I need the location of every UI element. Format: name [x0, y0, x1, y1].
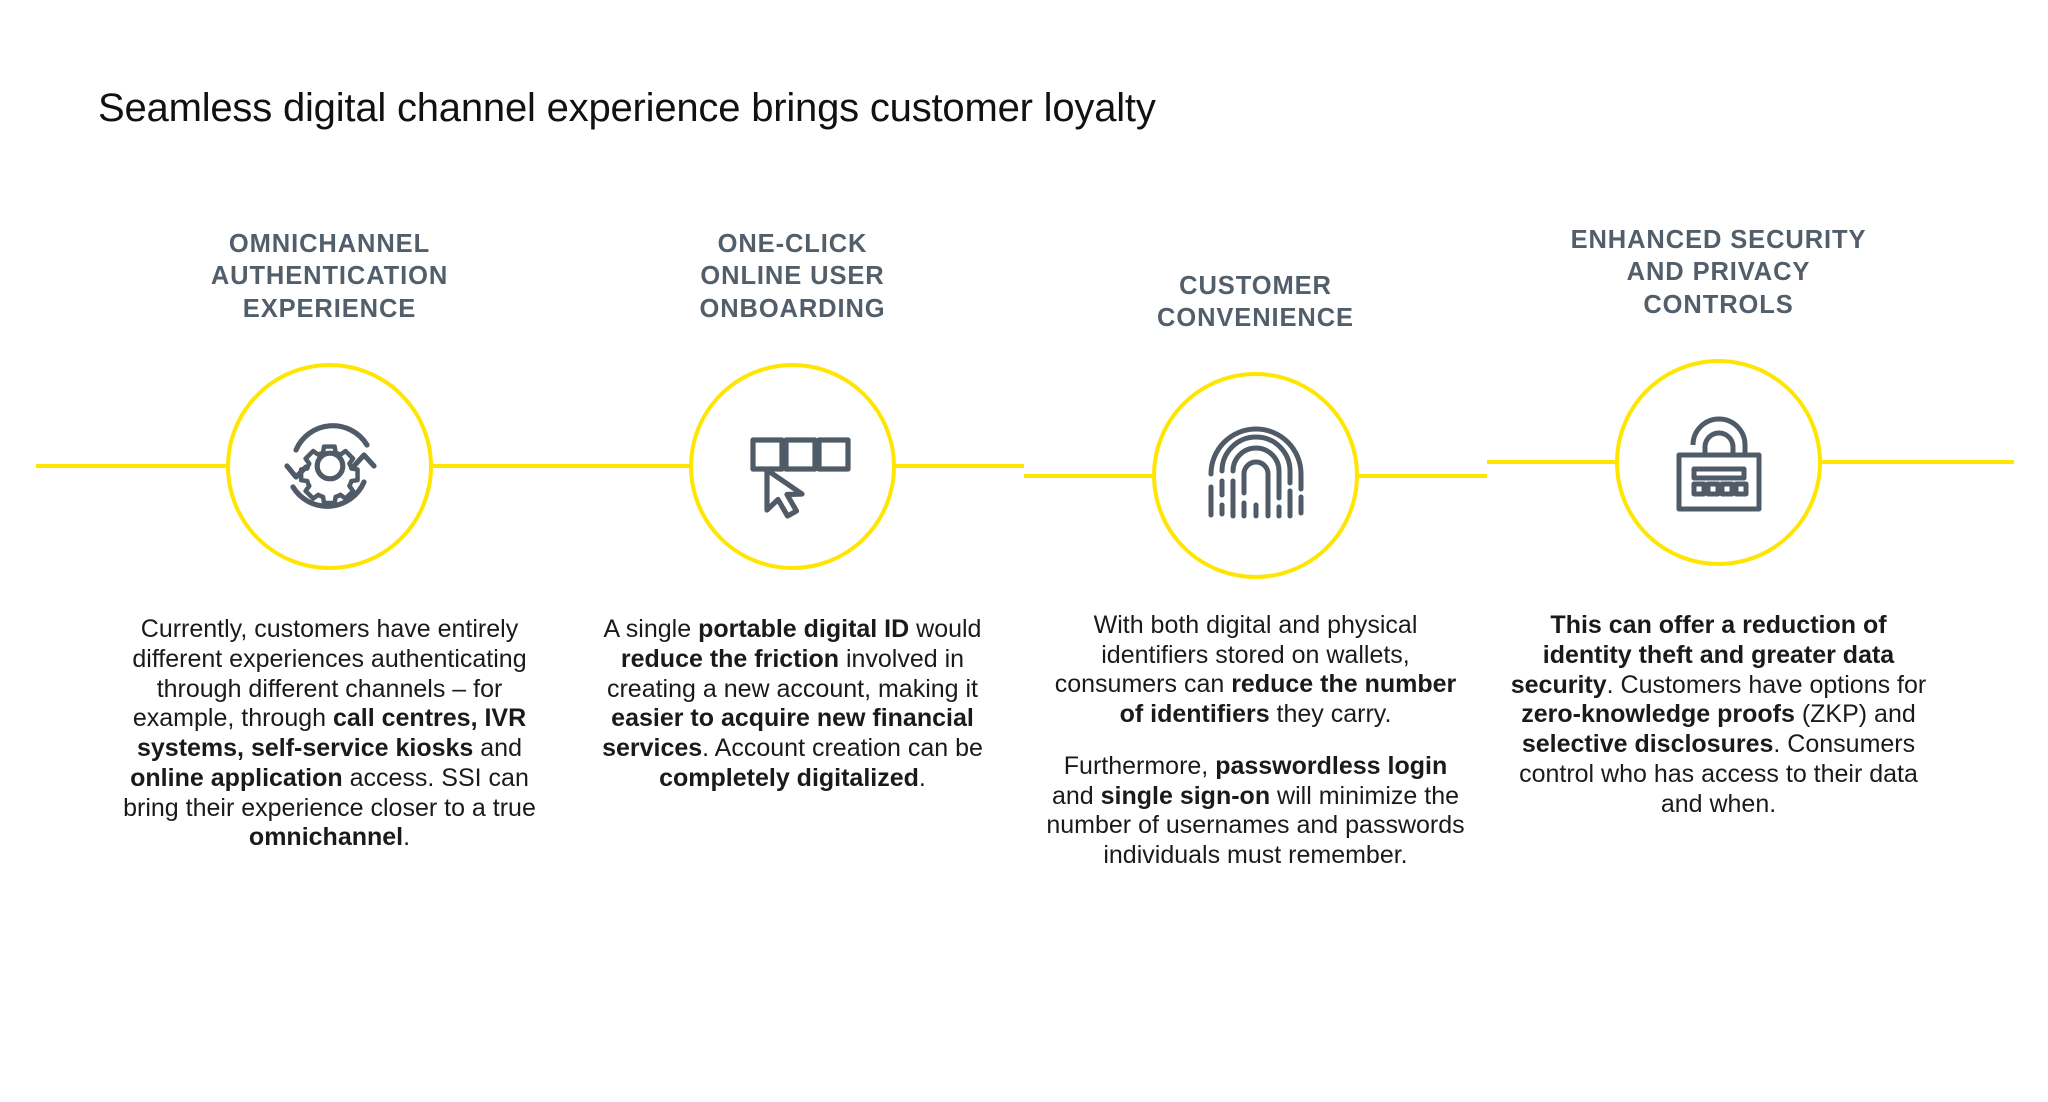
gear-refresh-icon	[270, 406, 390, 526]
pillar-heading: ONE-CLICKONLINE USERONBOARDING	[583, 228, 1003, 325]
connector-rail-right	[884, 464, 1024, 468]
body-paragraph: Currently, customers have entirely diffe…	[120, 615, 540, 853]
infographic-page: Seamless digital channel experience brin…	[0, 0, 2048, 1102]
padlock-combination-icon	[1660, 403, 1778, 521]
connector-rail-left	[36, 464, 238, 468]
icon-zone	[98, 351, 561, 581]
icon-circle	[689, 363, 896, 570]
pillar-heading: OMNICHANNELAUTHENTICATIONEXPERIENCE	[120, 228, 540, 325]
icon-zone	[1024, 361, 1487, 591]
connector-rail-right	[421, 464, 561, 468]
pillar-column-customer-convenience: CUSTOMERCONVENIENCE	[1024, 270, 1487, 871]
pillar-heading: CUSTOMERCONVENIENCE	[1046, 270, 1466, 335]
connector-rail-left	[561, 464, 701, 468]
icon-circle	[1152, 372, 1359, 579]
pillar-body: Currently, customers have entirely diffe…	[120, 615, 540, 853]
page-title: Seamless digital channel experience brin…	[98, 86, 1156, 131]
connector-rail-right	[1347, 474, 1487, 478]
pillar-columns: OMNICHANNELAUTHENTICATIONEXPERIENCE	[98, 210, 1950, 871]
cursor-click-windows-icon	[733, 406, 853, 526]
pillar-body: A single portable digital ID would reduc…	[583, 615, 1003, 794]
pillar-column-one-click-online-user-onboarding: ONE-CLICKONLINE USERONBOARDING A sin	[561, 228, 1024, 794]
pillar-column-omnichannel-authentication-experience: OMNICHANNELAUTHENTICATIONEXPERIENCE	[98, 228, 561, 853]
pillar-body: This can offer a reduction of identity t…	[1509, 611, 1929, 819]
body-paragraph: Furthermore, passwordless login and sing…	[1046, 752, 1466, 871]
icon-zone	[561, 351, 1024, 581]
connector-rail-left	[1487, 460, 1627, 464]
icon-zone	[1487, 347, 1950, 577]
connector-rail-left	[1024, 474, 1164, 478]
pillar-body: With both digital and physical identifie…	[1046, 611, 1466, 871]
icon-circle	[1615, 359, 1822, 566]
icon-circle	[226, 363, 433, 570]
pillar-column-enhanced-security-and-privacy-controls: ENHANCED SECURITYAND PRIVACYCONTROLS	[1487, 224, 1950, 819]
connector-rail-right	[1810, 460, 2014, 464]
fingerprint-icon	[1197, 417, 1315, 535]
body-paragraph: This can offer a reduction of identity t…	[1509, 611, 1929, 819]
pillar-heading: ENHANCED SECURITYAND PRIVACYCONTROLS	[1509, 224, 1929, 321]
body-paragraph: With both digital and physical identifie…	[1046, 611, 1466, 730]
body-paragraph: A single portable digital ID would reduc…	[583, 615, 1003, 794]
